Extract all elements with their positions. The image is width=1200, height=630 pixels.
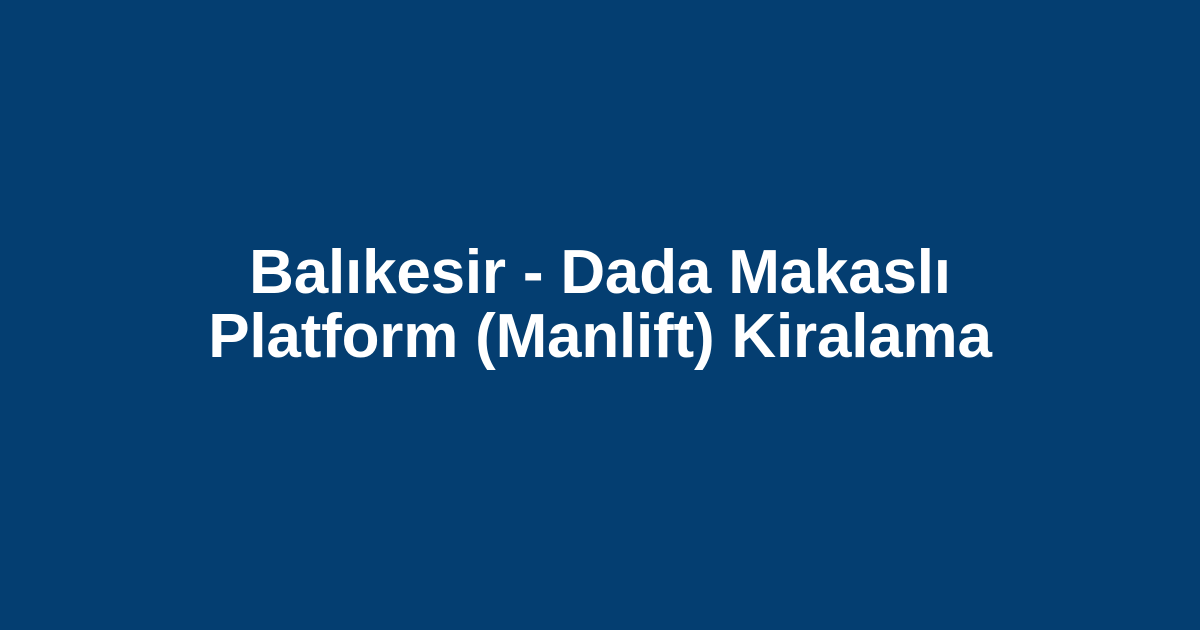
card-content: Balıkesir - Dada Makaslı Platform (Manli…: [90, 241, 1110, 369]
share-card: Balıkesir - Dada Makaslı Platform (Manli…: [0, 0, 1200, 630]
page-title: Balıkesir - Dada Makaslı Platform (Manli…: [150, 241, 1050, 369]
